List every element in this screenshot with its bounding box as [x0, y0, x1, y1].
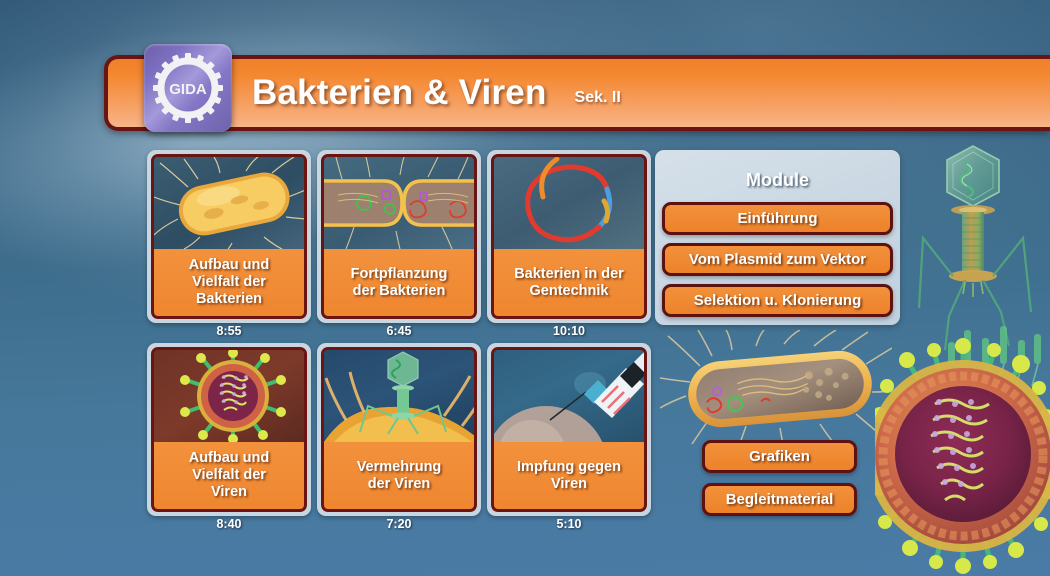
bacterium-rod-icon [154, 157, 304, 249]
label-line: Bakterien in der [514, 266, 624, 283]
video-tile-4[interactable]: Vermehrung der Viren [317, 343, 481, 516]
video-tile-label: Fortpflanzung der Bakterien [324, 249, 474, 316]
label-line: Viren [551, 476, 587, 493]
video-tile-5[interactable]: Impfung gegen Viren [487, 343, 651, 516]
video-duration: 6:45 [317, 324, 481, 338]
module-button-label: Einführung [738, 210, 818, 227]
video-duration: 7:20 [317, 517, 481, 531]
syringe-icon [494, 350, 644, 442]
video-duration: 10:10 [487, 324, 651, 338]
module-button-einfuehrung[interactable]: Einführung [662, 202, 893, 235]
label-line: Vielfalt der [192, 274, 266, 291]
logo-wordmark: GIDA [169, 81, 207, 98]
video-tile-label: Bakterien in der Gentechnik [494, 249, 644, 316]
video-tile-label: Aufbau und Vielfalt der Bakterien [154, 249, 304, 316]
video-tile-label: Aufbau und Vielfalt der Viren [154, 442, 304, 509]
video-duration: 8:55 [147, 324, 311, 338]
label-line: Aufbau und [189, 450, 270, 467]
label-line: Impfung gegen [517, 459, 621, 476]
phage-cluster-illustration [938, 318, 1050, 388]
grafiken-button[interactable]: Grafiken [702, 440, 857, 473]
virus-particle-icon [154, 350, 304, 442]
begleitmaterial-button-label: Begleitmaterial [726, 491, 834, 508]
video-tile-0[interactable]: Aufbau und Vielfalt der Bakterien [147, 150, 311, 323]
module-button-label: Vom Plasmid zum Vektor [689, 251, 866, 268]
label-line: Bakterien [196, 291, 262, 308]
video-tile-2[interactable]: Bakterien in der Gentechnik [487, 150, 651, 323]
video-tile-frame: Impfung gegen Viren [491, 347, 647, 512]
video-tile-frame: Fortpflanzung der Bakterien [321, 154, 477, 319]
modules-heading: Module [655, 150, 900, 191]
video-tile-1[interactable]: Fortpflanzung der Bakterien [317, 150, 481, 323]
influenza-virus-illustration [875, 338, 1050, 576]
plasmid-ring-icon [494, 157, 644, 249]
module-button-label: Selektion u. Klonierung [694, 292, 862, 309]
module-button-selektion-u-klonierung[interactable]: Selektion u. Klonierung [662, 284, 893, 317]
video-tile-frame: Aufbau und Vielfalt der Bakterien [151, 154, 307, 319]
module-button-vom-plasmid-zum-vektor[interactable]: Vom Plasmid zum Vektor [662, 243, 893, 276]
label-line: Aufbau und [189, 257, 270, 274]
video-tile-frame: Bakterien in der Gentechnik [491, 154, 647, 319]
label-line: Viren [211, 484, 247, 501]
gida-logo: GIDA [144, 44, 232, 132]
begleitmaterial-button[interactable]: Begleitmaterial [702, 483, 857, 516]
bacterial-division-icon [324, 157, 474, 249]
title-bar: Bakterien & Viren Sek. II [104, 55, 1050, 131]
gear-icon: GIDA [151, 51, 225, 125]
video-duration: 8:40 [147, 517, 311, 531]
video-tile-label: Impfung gegen Viren [494, 442, 644, 509]
page-title: Bakterien & Viren [252, 73, 547, 113]
phage-infection-icon [324, 350, 474, 442]
video-tile-label: Vermehrung der Viren [324, 442, 474, 509]
label-line: Fortpflanzung [351, 266, 448, 283]
label-line: Vielfalt der [192, 467, 266, 484]
label-line: Gentechnik [530, 283, 609, 300]
label-line: der Viren [368, 476, 431, 493]
video-duration: 5:10 [487, 517, 651, 531]
bacterium-illustration [660, 330, 892, 448]
modules-panel: Module Einführung Vom Plasmid zum Vektor… [655, 150, 900, 325]
video-tile-3[interactable]: Aufbau und Vielfalt der Viren [147, 343, 311, 516]
page-subtitle: Sek. II [575, 89, 621, 107]
grafiken-button-label: Grafiken [749, 448, 810, 465]
label-line: Vermehrung [357, 459, 442, 476]
label-line: der Bakterien [353, 283, 446, 300]
app-root: Bakterien & Viren Sek. II [0, 0, 1050, 576]
video-tile-frame: Vermehrung der Viren [321, 347, 477, 512]
video-tile-frame: Aufbau und Vielfalt der Viren [151, 347, 307, 512]
bacteriophage-illustration [905, 140, 1050, 350]
